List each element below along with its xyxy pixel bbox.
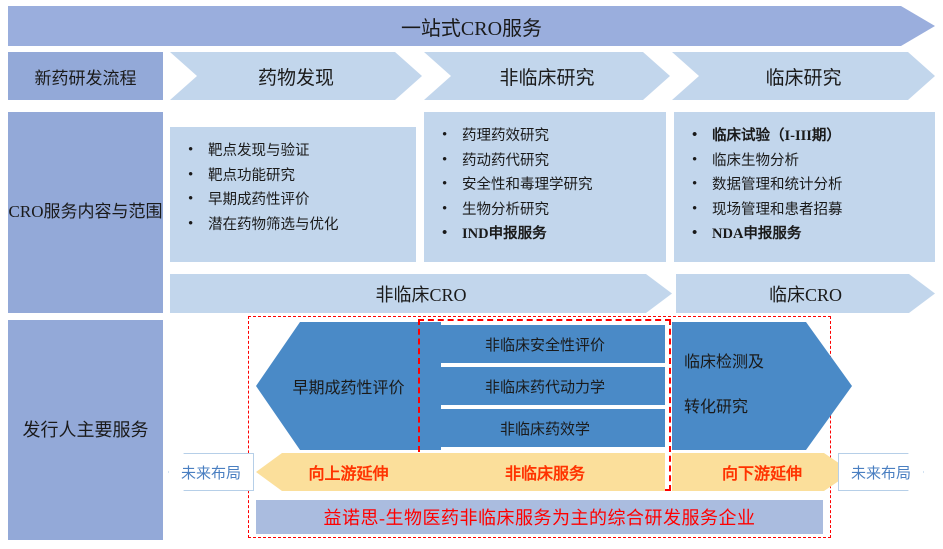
- row-label-cro-scope: CRO服务内容与范围: [8, 112, 163, 313]
- top-banner-arrow: 一站式CRO服务: [8, 6, 935, 46]
- list-item: 现场管理和患者招募: [712, 200, 925, 221]
- downstream-extension-label: 向下游延伸: [722, 460, 802, 484]
- list-item: 临床试验（I-III期）: [712, 126, 925, 147]
- future-layout-left-label: 未来布局: [181, 462, 241, 483]
- core-preclinical-service-label: 非临床服务: [505, 460, 585, 484]
- list-item: 早期成药性评价: [208, 190, 406, 211]
- downstream-service-line1: 临床检测及: [684, 352, 802, 374]
- process-stage-label: 非临床研究: [499, 63, 594, 90]
- cro-band-label: 临床CRO: [769, 281, 842, 307]
- list-item: 临床生物分析: [712, 151, 925, 172]
- list-item: 数据管理和统计分析: [712, 175, 925, 196]
- scope-list: 临床试验（I-III期） 临床生物分析 数据管理和统计分析 现场管理和患者招募 …: [684, 126, 925, 245]
- core-preclinical-service-box[interactable]: 非临床服务: [425, 453, 665, 491]
- row-label-issuer-services-text: 发行人主要服务: [23, 416, 149, 445]
- list-item: IND申报服务: [462, 224, 656, 245]
- process-stage-drug-discovery[interactable]: 药物发现: [170, 52, 422, 100]
- list-item: 潜在药物筛选与优化: [208, 215, 406, 236]
- upstream-service-label: 早期成药性评价: [292, 374, 404, 398]
- process-stage-clinical[interactable]: 临床研究: [672, 52, 935, 100]
- downstream-service-line2: 转化研究: [684, 397, 802, 419]
- row-label-issuer-services: 发行人主要服务: [8, 320, 163, 540]
- top-banner-label: 一站式CRO服务: [401, 12, 542, 41]
- list-item: NDA申报服务: [712, 224, 925, 245]
- scope-list: 靶点发现与验证 靶点功能研究 早期成药性评价 潜在药物筛选与优化: [180, 141, 406, 235]
- scope-card-discovery: 靶点发现与验证 靶点功能研究 早期成药性评价 潜在药物筛选与优化: [170, 127, 416, 262]
- company-positioning-banner: 益诺思-生物医药非临床服务为主的综合研发服务企业: [256, 500, 823, 534]
- cro-band-preclinical[interactable]: 非临床CRO: [170, 274, 672, 313]
- list-item: 药动药代研究: [462, 151, 656, 172]
- list-item: 药理药效研究: [462, 126, 656, 147]
- row-label-process-text: 新药研发流程: [35, 64, 137, 89]
- list-item: 靶点发现与验证: [208, 141, 406, 162]
- process-stage-label: 临床研究: [765, 63, 841, 90]
- future-layout-right-label: 未来布局: [851, 462, 911, 483]
- upstream-extension-label: 向上游延伸: [308, 460, 388, 484]
- downstream-service-label: 临床检测及 转化研究: [684, 352, 840, 419]
- cro-band-clinical[interactable]: 临床CRO: [676, 274, 935, 313]
- future-layout-right-chevron: 未来布局: [838, 453, 924, 491]
- cro-band-label: 非临床CRO: [375, 281, 466, 307]
- process-stage-preclinical[interactable]: 非临床研究: [424, 52, 670, 100]
- row-label-process: 新药研发流程: [8, 52, 163, 100]
- list-item: 生物分析研究: [462, 200, 656, 221]
- process-stage-label: 药物发现: [258, 63, 334, 90]
- upstream-extension-chevron[interactable]: 向上游延伸: [256, 453, 441, 491]
- scope-list: 药理药效研究 药动药代研究 安全性和毒理学研究 生物分析研究 IND申报服务: [434, 126, 656, 245]
- list-item: 靶点功能研究: [208, 166, 406, 187]
- company-positioning-label: 益诺思-生物医药非临床服务为主的综合研发服务企业: [324, 504, 756, 530]
- future-layout-left-chevron: 未来布局: [168, 453, 254, 491]
- downstream-extension-chevron[interactable]: 向下游延伸: [672, 453, 852, 491]
- scope-card-preclinical: 药理药效研究 药动药代研究 安全性和毒理学研究 生物分析研究 IND申报服务: [424, 112, 666, 262]
- scope-card-clinical: 临床试验（I-III期） 临床生物分析 数据管理和统计分析 现场管理和患者招募 …: [674, 112, 935, 262]
- row-label-cro-scope-text: CRO服务内容与范围: [9, 199, 163, 225]
- list-item: 安全性和毒理学研究: [462, 175, 656, 196]
